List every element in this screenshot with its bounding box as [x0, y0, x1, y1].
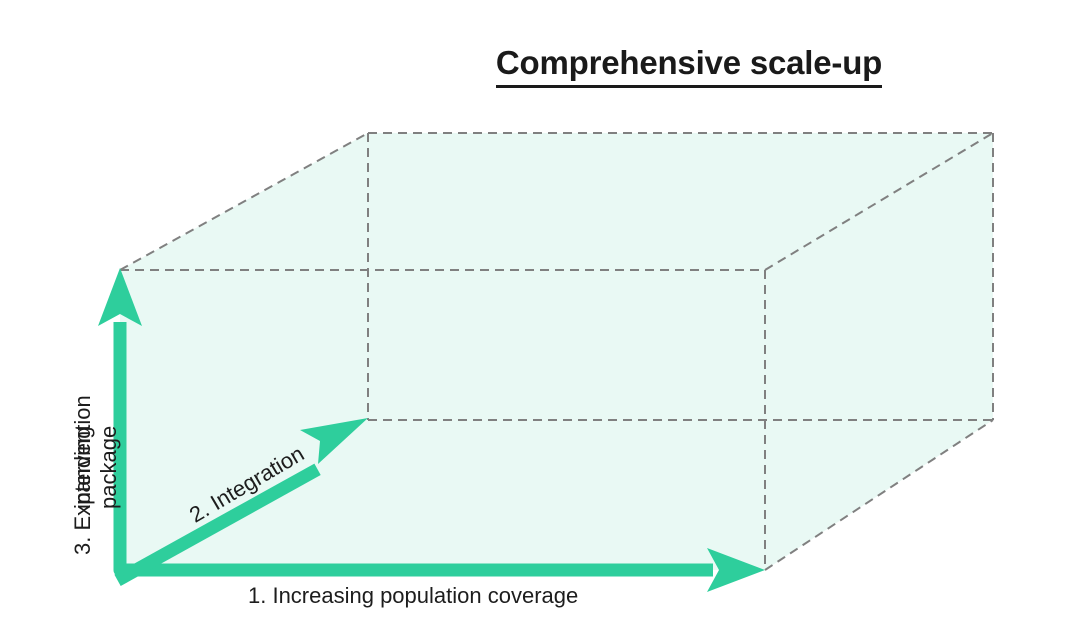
axis-label-y: 3. Expanding intervention package	[70, 395, 122, 555]
diagram-canvas: Comprehensive scale-up 1. Increasing pop…	[0, 0, 1068, 641]
axis-label-y-col-1: 3. Expanding	[70, 509, 96, 555]
page-title: Comprehensive scale-up	[0, 44, 1068, 88]
arrow-x-shaft	[120, 564, 713, 577]
axis-label-y-col-2: intervention package	[70, 395, 122, 509]
axis-label-y-line-1: 3. Expanding	[70, 509, 96, 555]
axis-label-y-line-3: package	[96, 395, 122, 509]
cube-diagram-svg	[0, 0, 1068, 641]
page-title-text: Comprehensive scale-up	[496, 44, 882, 88]
axis-label-x: 1. Increasing population coverage	[248, 583, 578, 609]
axis-origin-joint	[114, 564, 127, 577]
axis-label-y-line-2: intervention	[70, 395, 96, 509]
